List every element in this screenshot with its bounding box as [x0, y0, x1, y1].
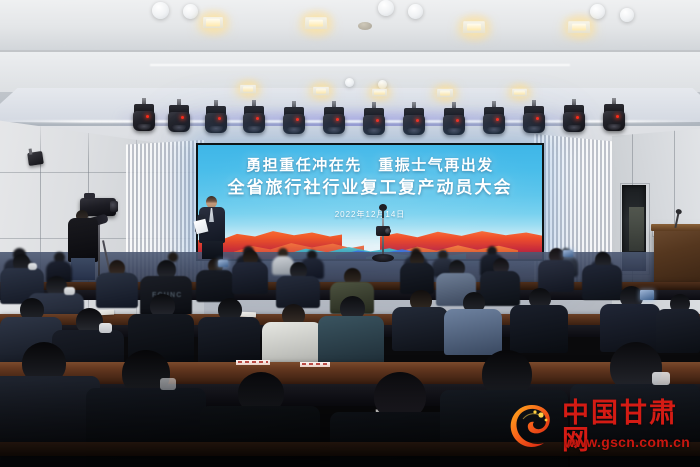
audience-person — [232, 250, 268, 292]
conference-photo: 勇担重任冲在先 重振士气再出发 全省旅行社行业复工复产动员大会 2022年12月… — [0, 0, 700, 467]
ceiling-can-light — [378, 0, 394, 16]
gscn-swoosh-logo — [508, 402, 556, 450]
recessed-square-light — [313, 87, 329, 95]
recessed-square-light — [240, 85, 256, 93]
moving-head-light — [603, 104, 625, 134]
screen-title-line: 勇担重任冲在先 重振士气再出发 — [198, 159, 542, 174]
audience-person — [198, 298, 260, 364]
ceiling-can-light — [590, 4, 605, 19]
audience-person — [600, 286, 660, 350]
moving-head-light — [133, 104, 155, 134]
recessed-square-light — [203, 17, 224, 28]
audience-person — [400, 252, 434, 292]
ceiling-can-light — [408, 4, 423, 19]
moving-head-light — [323, 107, 345, 137]
ceiling-can-light — [620, 8, 634, 22]
recessed-square-light — [512, 89, 527, 97]
moving-head-light — [403, 108, 425, 138]
moving-head-light — [243, 106, 265, 136]
name-card — [300, 362, 330, 367]
ceiling-can-light — [183, 4, 198, 19]
camera-body — [376, 226, 390, 236]
name-card — [236, 360, 270, 365]
recessed-square-light — [463, 21, 486, 33]
audience-person — [392, 290, 448, 348]
moving-head-light — [443, 108, 465, 138]
screen-subtitle-line: 全省旅行社行业复工复产动员大会 — [198, 179, 542, 196]
recessed-square-light — [305, 17, 328, 29]
recessed-square-light — [568, 21, 591, 33]
audience-person — [262, 304, 322, 368]
recessed-square-light — [437, 89, 453, 97]
moving-head-light — [168, 105, 190, 135]
moving-head-light — [563, 105, 585, 135]
audience-person — [276, 262, 320, 306]
recessed-square-light — [372, 89, 387, 97]
wall-speaker — [27, 151, 44, 166]
moving-head-light — [205, 106, 227, 136]
moving-head-light — [283, 107, 305, 137]
smoke-detector-icon — [358, 22, 372, 30]
ceiling-can-light — [378, 80, 387, 89]
audience-person — [444, 292, 502, 352]
moving-head-light — [483, 107, 505, 137]
audience-person — [538, 248, 574, 290]
audience-person — [510, 288, 568, 350]
audience-person — [196, 258, 234, 300]
ceiling-light-strip — [150, 64, 570, 66]
moving-head-light — [523, 106, 545, 136]
watermark: 中国甘肃网 www.gscn.com.cn — [508, 398, 698, 460]
watermark-url: www.gscn.com.cn — [564, 434, 690, 450]
audience-person — [318, 296, 384, 366]
stage-light-truss — [0, 100, 700, 146]
ceiling-can-light — [345, 78, 354, 87]
moving-head-light — [363, 108, 385, 138]
ceiling-can-light — [152, 2, 169, 19]
